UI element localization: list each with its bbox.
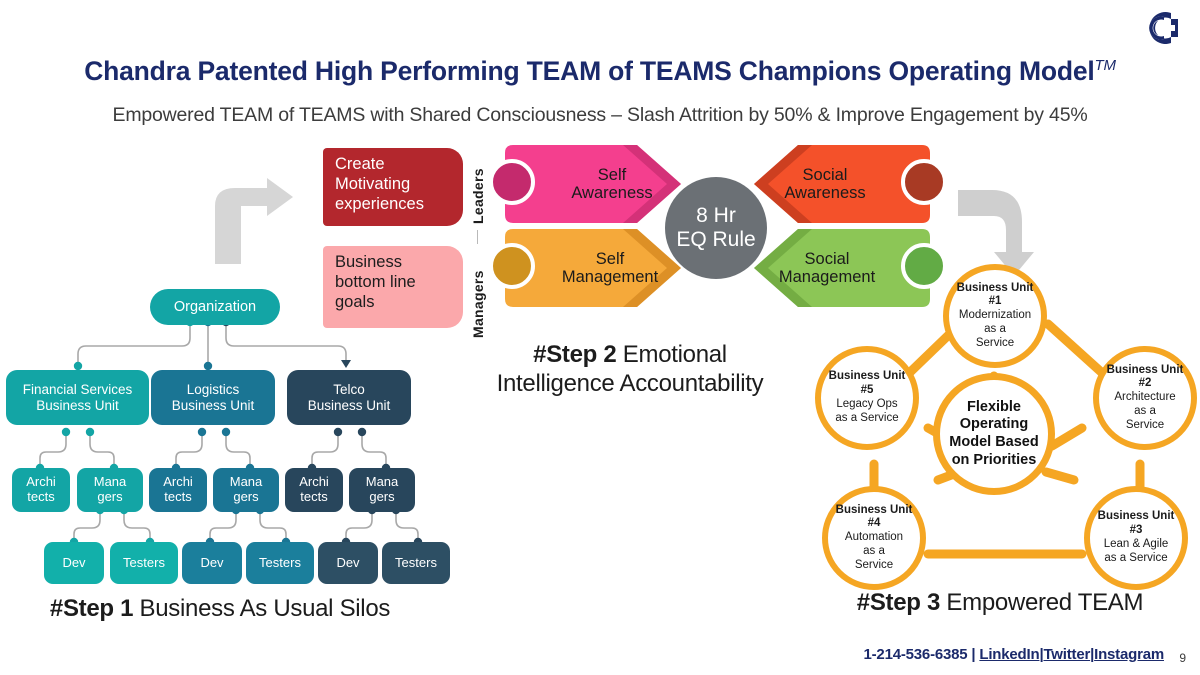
role3-line2: tects	[164, 489, 191, 504]
step2-caption: #Step 2 Emotional Intelligence Accountab…	[440, 340, 820, 399]
step3-unit-1[interactable]: Business Unit #1 Modernization as a Serv…	[943, 264, 1047, 368]
self-awareness-knob-icon	[489, 159, 535, 205]
org-node-role-4[interactable]: Managers	[213, 468, 279, 512]
unit2-l3: Service	[1126, 419, 1164, 433]
unit3-l2: as a Service	[1104, 552, 1167, 566]
org-node-role-6[interactable]: Managers	[349, 468, 415, 512]
unit4-l1: Automation	[845, 531, 903, 545]
bu1-line1: Financial Services	[23, 382, 133, 397]
chandra-c-monogram-logo	[1138, 4, 1186, 52]
unit3-hd2: #3	[1130, 524, 1143, 538]
step1-caption-text: Business As Usual Silos	[133, 595, 390, 622]
org-node-team-4[interactable]: Testers	[246, 542, 314, 584]
trademark-mark: TM	[1095, 57, 1116, 74]
social-awareness-knob-icon	[901, 159, 947, 205]
unit5-l1: Legacy Ops	[836, 398, 897, 412]
step3-center-text: Flexible Operating Model Based on Priori…	[940, 399, 1048, 470]
page-title: Chandra Patented High Performing TEAM of…	[0, 56, 1200, 87]
unit5-l2: as a Service	[835, 412, 898, 426]
linkedin-link[interactable]: LinkedIn	[979, 646, 1039, 663]
eq-core-line2: EQ Rule	[676, 228, 755, 252]
unit1-hd1: Business Unit	[957, 282, 1034, 296]
page-title-text: Chandra Patented High Performing TEAM of…	[84, 56, 1094, 86]
org-node-business-unit-1[interactable]: Financial Services Business Unit	[6, 370, 149, 425]
org-node-team-3[interactable]: Dev	[182, 542, 242, 584]
step2-caption-text: Emotional	[616, 341, 726, 368]
unit5-hd1: Business Unit	[829, 370, 906, 384]
unit2-l1: Architecture	[1114, 391, 1175, 405]
org-node-organization[interactable]: Organization	[150, 289, 280, 325]
footer-contact: 1-214-536-6385 | LinkedIn|Twitter|Instag…	[863, 646, 1164, 663]
unit1-l2: as a	[984, 323, 1006, 337]
unit1-l3: Service	[976, 337, 1014, 351]
eq-core-circle[interactable]: 8 Hr EQ Rule	[665, 177, 767, 279]
self-awareness-line1: Self	[598, 166, 626, 184]
self-management-line1: Self	[596, 250, 624, 268]
footer-phone: 1-214-536-6385	[863, 646, 967, 663]
unit2-l2: as a	[1134, 405, 1156, 419]
role4-line1: Mana	[230, 474, 263, 489]
managers-axis-label: Managers	[470, 250, 486, 338]
managers-box-text: Business bottom line goals	[335, 253, 416, 311]
org-node-team-1[interactable]: Dev	[44, 542, 104, 584]
role6-line2: gers	[369, 489, 394, 504]
page-subtitle: Empowered TEAM of TEAMS with Shared Cons…	[0, 104, 1200, 127]
step1-caption: #Step 1 Business As Usual Silos	[10, 594, 430, 623]
unit2-hd1: Business Unit	[1107, 364, 1184, 378]
leaders-box[interactable]: Create Motivating experiences	[323, 148, 463, 226]
role4-line2: gers	[233, 489, 258, 504]
org-node-team-6[interactable]: Testers	[382, 542, 450, 584]
unit2-hd2: #2	[1139, 377, 1152, 391]
org-node-team-5[interactable]: Dev	[318, 542, 378, 584]
flow-arrow-step1-to-step2-icon	[205, 178, 295, 264]
unit3-l1: Lean & Agile	[1104, 538, 1169, 552]
step2-caption-line2: Intelligence Accountability	[497, 370, 764, 397]
step3-caption-prefix: #Step 3	[857, 589, 940, 616]
self-management-knob-icon	[489, 243, 535, 289]
step3-diagram: Business Unit #1 Modernization as a Serv…	[810, 268, 1200, 588]
footer-sep-1: |	[967, 646, 979, 663]
bu1-line2: Business Unit	[36, 398, 119, 413]
role1-line1: Archi	[26, 474, 56, 489]
step1-caption-prefix: #Step 1	[50, 595, 133, 622]
role6-line1: Mana	[366, 474, 399, 489]
step3-unit-2[interactable]: Business Unit #2 Architecture as a Servi…	[1093, 346, 1197, 450]
role2-line1: Mana	[94, 474, 127, 489]
slide-canvas: Chandra Patented High Performing TEAM of…	[0, 0, 1200, 675]
unit4-l3: Service	[855, 559, 893, 573]
bu3-line1: Telco	[333, 382, 365, 397]
managers-box[interactable]: Business bottom line goals	[323, 246, 463, 328]
twitter-link[interactable]: Twitter	[1043, 646, 1090, 663]
step3-caption-text: Empowered TEAM	[940, 589, 1143, 616]
instagram-link[interactable]: Instagram	[1094, 646, 1164, 663]
axis-divider	[477, 230, 478, 244]
org-node-role-3[interactable]: Architects	[149, 468, 207, 512]
role5-line1: Archi	[299, 474, 329, 489]
unit4-hd2: #4	[868, 517, 881, 531]
bu2-line2: Business Unit	[172, 398, 255, 413]
bu3-line2: Business Unit	[308, 398, 391, 413]
role1-line2: tects	[27, 489, 54, 504]
social-awareness-line1: Social	[803, 166, 848, 184]
org-node-role-2[interactable]: Managers	[77, 468, 143, 512]
social-management-line1: Social	[805, 250, 850, 268]
page-number: 9	[1179, 651, 1186, 665]
role2-line2: gers	[97, 489, 122, 504]
step3-center-circle[interactable]: Flexible Operating Model Based on Priori…	[933, 373, 1055, 495]
self-awareness-line2: Awareness	[571, 184, 652, 202]
org-node-role-5[interactable]: Architects	[285, 468, 343, 512]
unit3-hd1: Business Unit	[1098, 510, 1175, 524]
org-node-business-unit-3[interactable]: Telco Business Unit	[287, 370, 411, 425]
leaders-axis-label: Leaders	[470, 148, 486, 224]
bu2-line1: Logistics	[187, 382, 240, 397]
unit1-l1: Modernization	[959, 309, 1031, 323]
org-node-team-2[interactable]: Testers	[110, 542, 178, 584]
role3-line1: Archi	[163, 474, 193, 489]
role5-line2: tects	[300, 489, 327, 504]
step3-caption: #Step 3 Empowered TEAM	[800, 588, 1200, 617]
step3-unit-5[interactable]: Business Unit #5 Legacy Ops as a Service	[815, 346, 919, 450]
step2-caption-prefix: #Step 2	[533, 341, 616, 368]
eq-core-line1: 8 Hr	[696, 204, 736, 228]
unit4-l2: as a	[863, 545, 885, 559]
social-awareness-line2: Awareness	[784, 184, 865, 202]
step3-unit-3[interactable]: Business Unit #3 Lean & Agile as a Servi…	[1084, 486, 1188, 590]
step3-unit-4[interactable]: Business Unit #4 Automation as a Service	[822, 486, 926, 590]
leaders-box-text: Create Motivating experiences	[335, 155, 424, 213]
self-management-line2: Management	[562, 268, 658, 286]
unit1-hd2: #1	[989, 295, 1002, 309]
unit5-hd2: #5	[861, 384, 874, 398]
org-node-role-1[interactable]: Architects	[12, 468, 70, 512]
unit4-hd1: Business Unit	[836, 504, 913, 518]
org-node-business-unit-2[interactable]: Logistics Business Unit	[151, 370, 275, 425]
